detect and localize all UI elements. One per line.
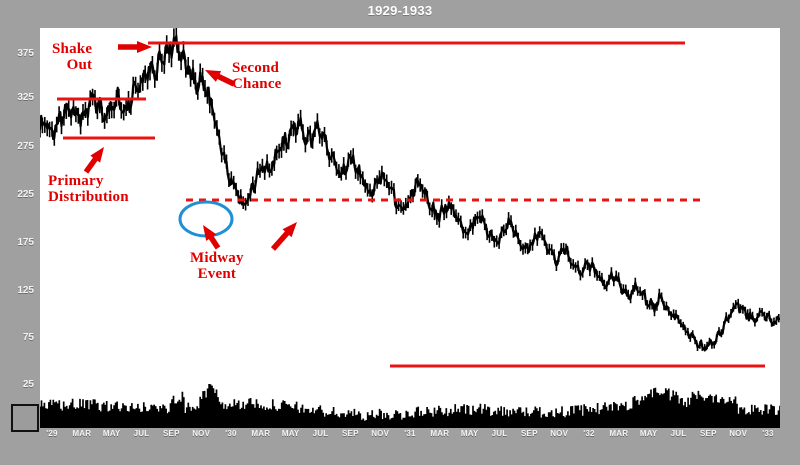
chart-screenshot: 1929-1933 3753252752251751257525 '29MARM… (0, 0, 800, 465)
annotation-shake-out: Shake Out (52, 41, 92, 73)
x-axis-tick: MAY (640, 429, 658, 438)
x-axis: '29MARMAYJULSEPNOV'30MARMAYJULSEPNOV'31M… (40, 429, 780, 447)
x-axis-tick: NOV (729, 429, 747, 438)
x-axis-tick: '32 (583, 429, 594, 438)
x-axis-tick: SEP (342, 429, 359, 438)
y-axis-tick: 25 (0, 379, 34, 390)
annotation-second-chance: Second Chance (232, 60, 282, 92)
x-axis-tick: '33 (762, 429, 773, 438)
y-axis: 3753252752251751257525 (0, 0, 40, 465)
x-axis-tick: SEP (163, 429, 180, 438)
x-axis-tick: SEP (700, 429, 717, 438)
x-axis-tick: JUL (671, 429, 687, 438)
price-series (40, 28, 780, 383)
x-axis-tick: MAY (282, 429, 300, 438)
x-axis-tick: NOV (550, 429, 568, 438)
x-axis-tick: JUL (492, 429, 508, 438)
price-panel (40, 28, 780, 383)
x-axis-tick: NOV (371, 429, 389, 438)
x-axis-tick: JUL (313, 429, 329, 438)
x-axis-tick: '29 (46, 429, 57, 438)
y-axis-tick: 275 (0, 141, 34, 152)
y-axis-tick: 375 (0, 48, 34, 59)
price-bars (40, 28, 779, 351)
x-axis-tick: MAY (461, 429, 479, 438)
x-axis-tick: NOV (192, 429, 210, 438)
volume-bars (40, 384, 780, 428)
x-axis-tick: MAY (103, 429, 121, 438)
corner-box[interactable] (11, 404, 39, 432)
x-axis-tick: '30 (225, 429, 236, 438)
x-axis-tick: MAR (72, 429, 91, 438)
annotation-midway-event: Midway Event (190, 250, 244, 282)
x-axis-tick: MAR (430, 429, 449, 438)
y-axis-tick: 175 (0, 237, 34, 248)
page-title: 1929-1933 (0, 3, 800, 18)
volume-panel (40, 383, 780, 428)
x-axis-tick: MAR (609, 429, 628, 438)
y-axis-tick: 125 (0, 285, 34, 296)
x-axis-tick: MAR (251, 429, 270, 438)
x-axis-tick: JUL (134, 429, 150, 438)
x-axis-tick: '31 (404, 429, 415, 438)
volume-series (40, 383, 780, 428)
plot-area (40, 28, 780, 428)
x-axis-tick: SEP (521, 429, 538, 438)
y-axis-tick: 325 (0, 92, 34, 103)
y-axis-tick: 75 (0, 332, 34, 343)
y-axis-tick: 225 (0, 189, 34, 200)
annotation-primary-distribution: Primary Distribution (48, 173, 129, 205)
